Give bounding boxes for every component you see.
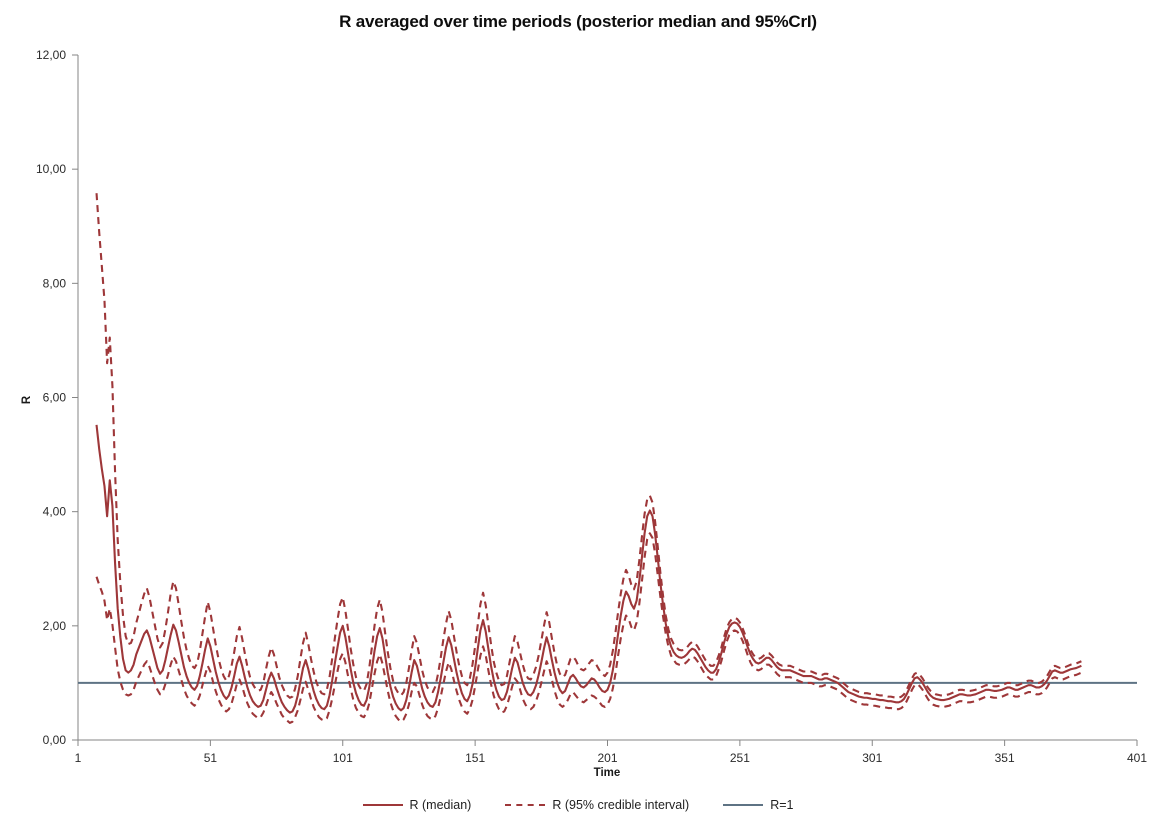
y-tick-label: 12,00 bbox=[36, 48, 66, 62]
y-axis-title: R bbox=[21, 395, 33, 404]
chart-container: R averaged over time periods (posterior … bbox=[0, 0, 1156, 833]
y-tick-label: 10,00 bbox=[36, 162, 66, 176]
series-path bbox=[97, 425, 1082, 713]
data-series-group bbox=[97, 193, 1082, 723]
chart-legend: R (median)R (95% credible interval)R=1 bbox=[0, 798, 1156, 812]
y-tick-label: 0,00 bbox=[43, 733, 67, 747]
legend-label: R (median) bbox=[410, 798, 472, 812]
legend-item[interactable]: R (95% credible interval) bbox=[505, 798, 689, 812]
x-tick-label: 151 bbox=[465, 751, 485, 765]
x-tick-label: 401 bbox=[1127, 751, 1147, 765]
chart-plot-area: 0,002,004,006,008,0010,0012,00 151101151… bbox=[0, 0, 1156, 833]
series-path bbox=[97, 533, 1082, 723]
legend-label: R=1 bbox=[770, 798, 793, 812]
legend-swatch bbox=[363, 804, 403, 806]
x-axis-title: Time bbox=[594, 767, 621, 779]
series-path bbox=[97, 193, 1082, 698]
x-axis-ticks: 151101151201251301351401 bbox=[75, 740, 1148, 765]
legend-item[interactable]: R (median) bbox=[363, 798, 472, 812]
y-tick-label: 6,00 bbox=[43, 391, 67, 405]
legend-label: R (95% credible interval) bbox=[552, 798, 689, 812]
y-tick-label: 4,00 bbox=[43, 505, 67, 519]
y-axis-ticks: 0,002,004,006,008,0010,0012,00 bbox=[36, 48, 78, 747]
legend-swatch bbox=[723, 804, 763, 806]
x-tick-label: 251 bbox=[730, 751, 750, 765]
x-tick-label: 51 bbox=[204, 751, 218, 765]
legend-swatch bbox=[505, 804, 545, 806]
x-tick-label: 1 bbox=[75, 751, 82, 765]
x-tick-label: 351 bbox=[995, 751, 1015, 765]
x-tick-label: 301 bbox=[862, 751, 882, 765]
x-tick-label: 201 bbox=[597, 751, 617, 765]
y-tick-label: 2,00 bbox=[43, 619, 67, 633]
y-tick-label: 8,00 bbox=[43, 276, 67, 290]
x-tick-label: 101 bbox=[333, 751, 353, 765]
legend-item[interactable]: R=1 bbox=[723, 798, 793, 812]
